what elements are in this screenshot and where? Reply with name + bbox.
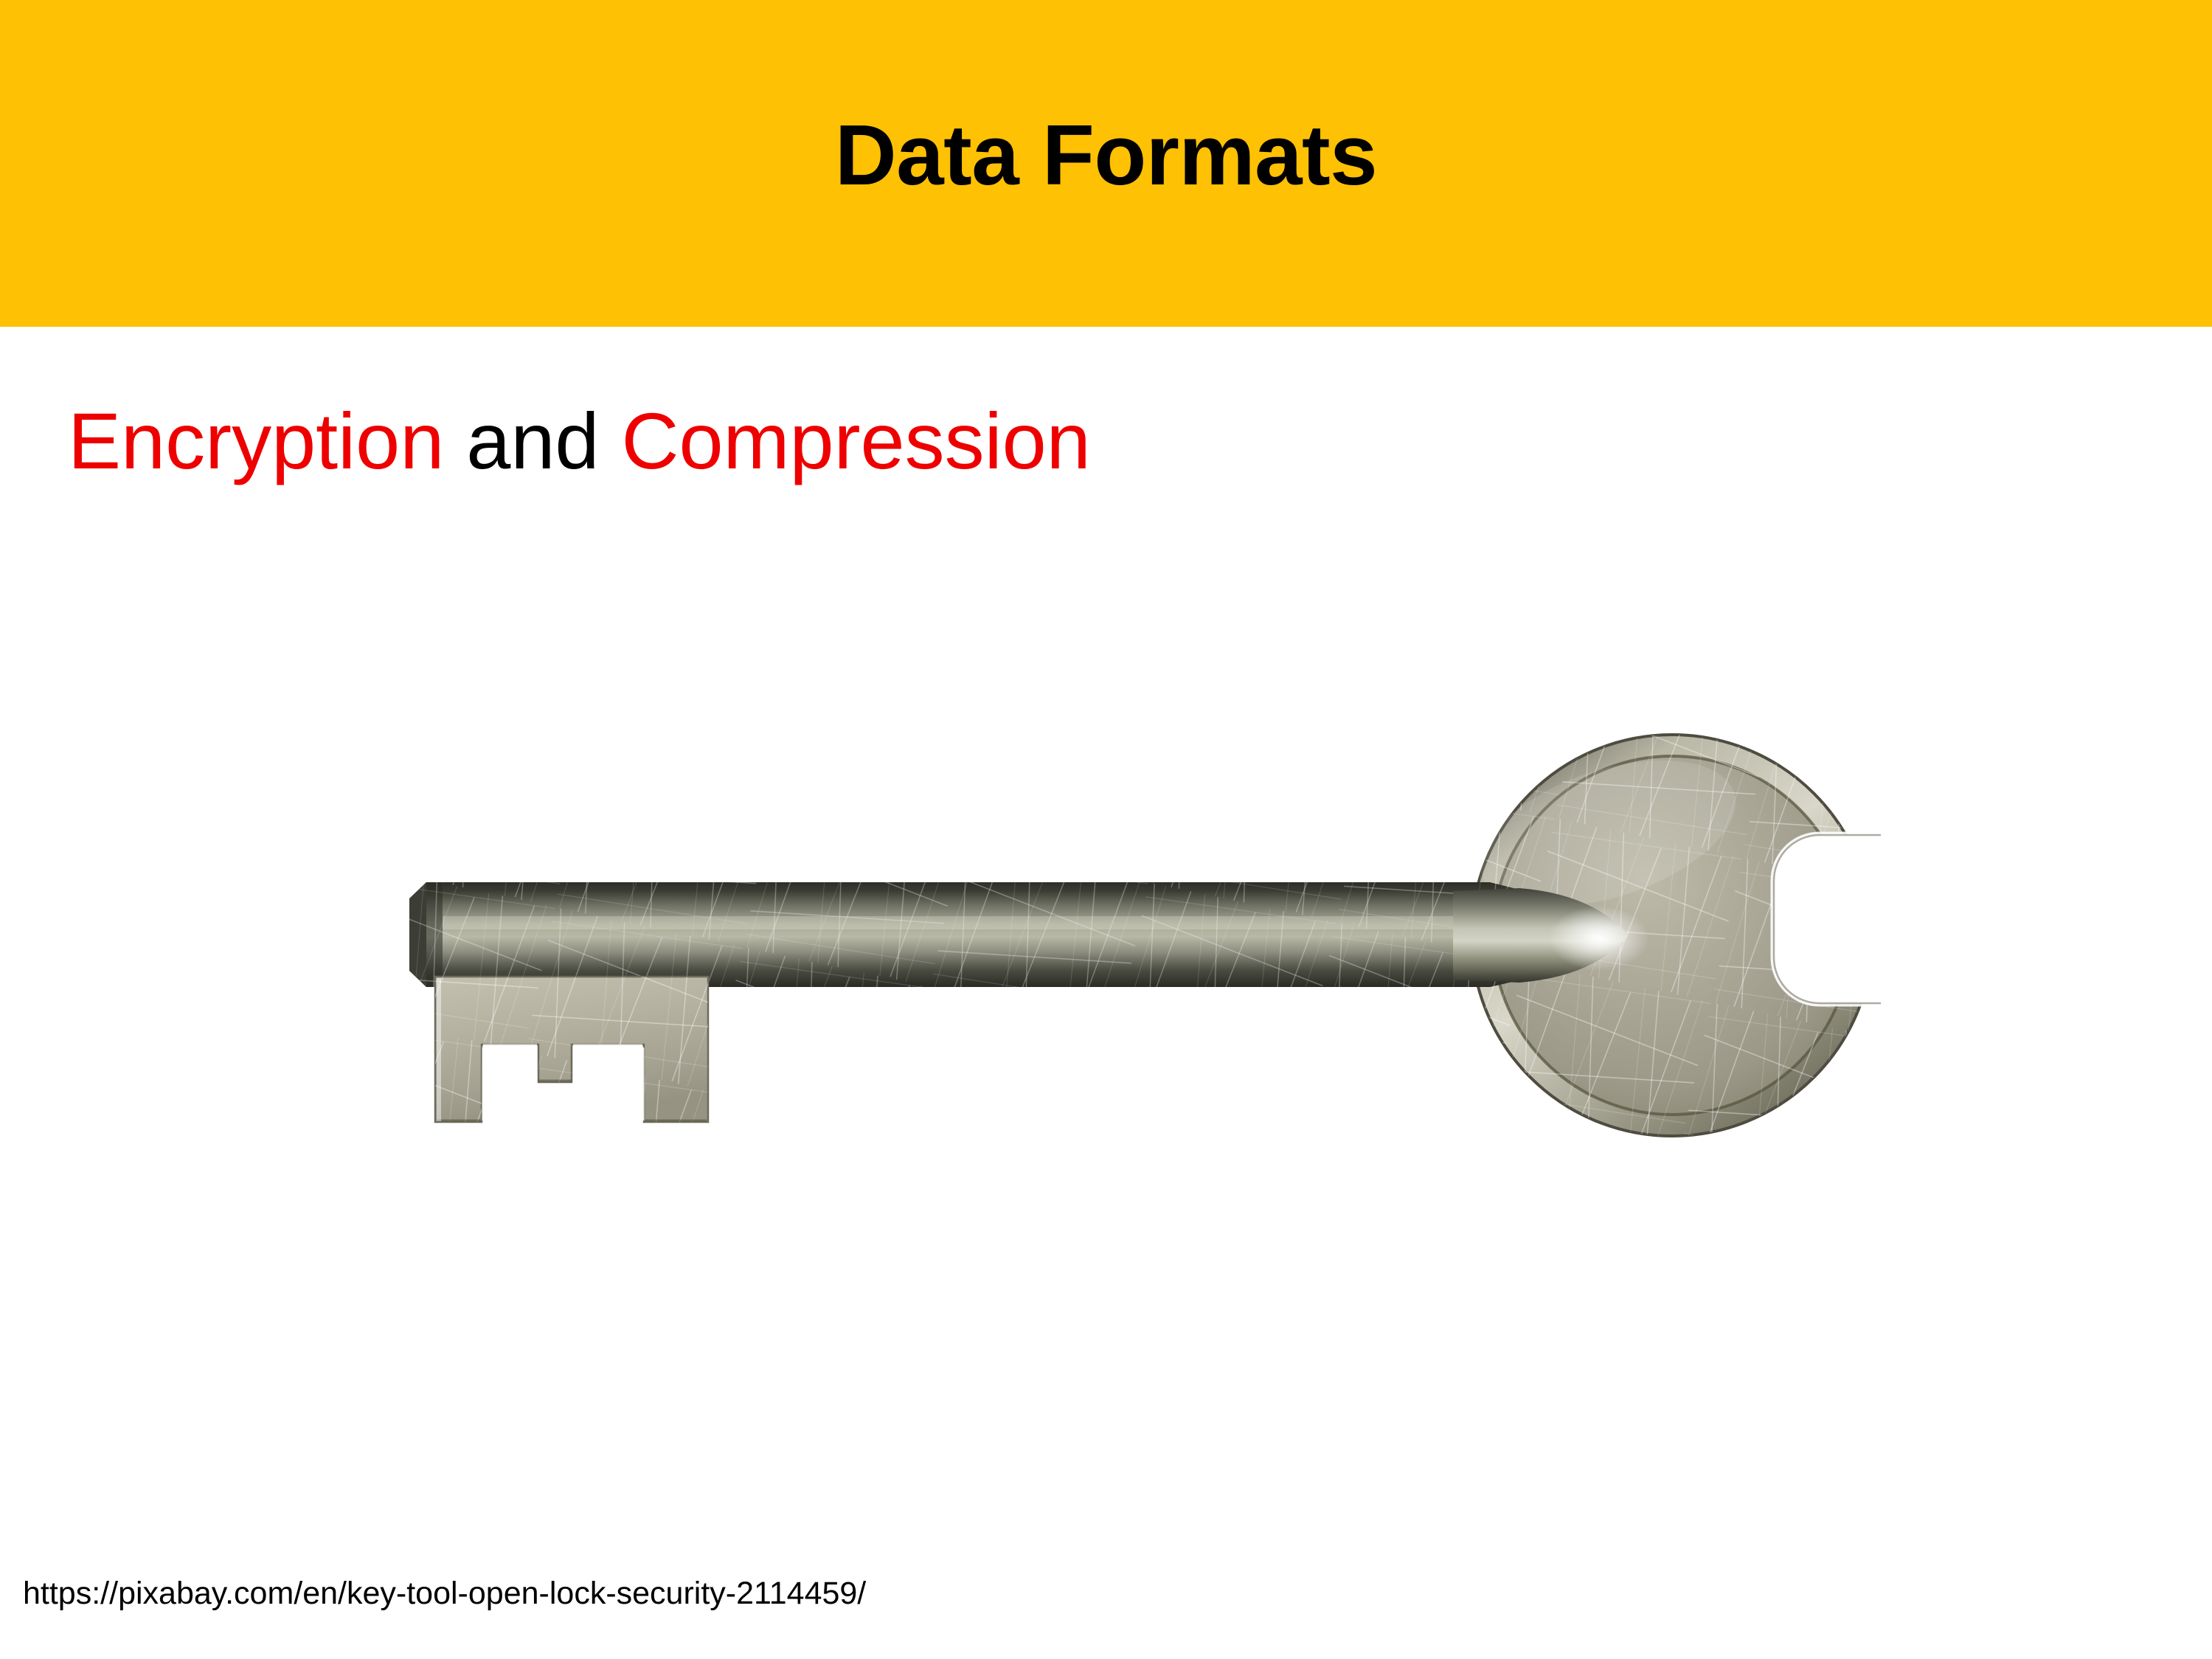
metal-key-image <box>398 723 1881 1143</box>
attribution-url: https://pixabay.com/en/key-tool-open-loc… <box>23 1576 866 1611</box>
key-shaft-highlight-band <box>443 916 1490 929</box>
metal-key-graphic <box>398 723 1881 1143</box>
subtitle-word-compression: Compression <box>621 396 1090 485</box>
page-title: Data Formats <box>0 112 2212 198</box>
subtitle-word-and: and <box>444 396 621 485</box>
key-bit-left-edge-highlight <box>437 978 441 1121</box>
key-shaft-waist <box>1390 894 1446 977</box>
subtitle-line: Encryption and Compression <box>68 397 1091 486</box>
slide-canvas: Data Formats Encryption and Compression <box>0 0 2212 1659</box>
key-collar-specular-highlight <box>1549 906 1649 971</box>
key-bit-scratches <box>428 966 723 1136</box>
key-bow-hole <box>1774 835 1881 1003</box>
subtitle-word-encryption: Encryption <box>68 396 444 485</box>
key-bit <box>428 966 723 1136</box>
